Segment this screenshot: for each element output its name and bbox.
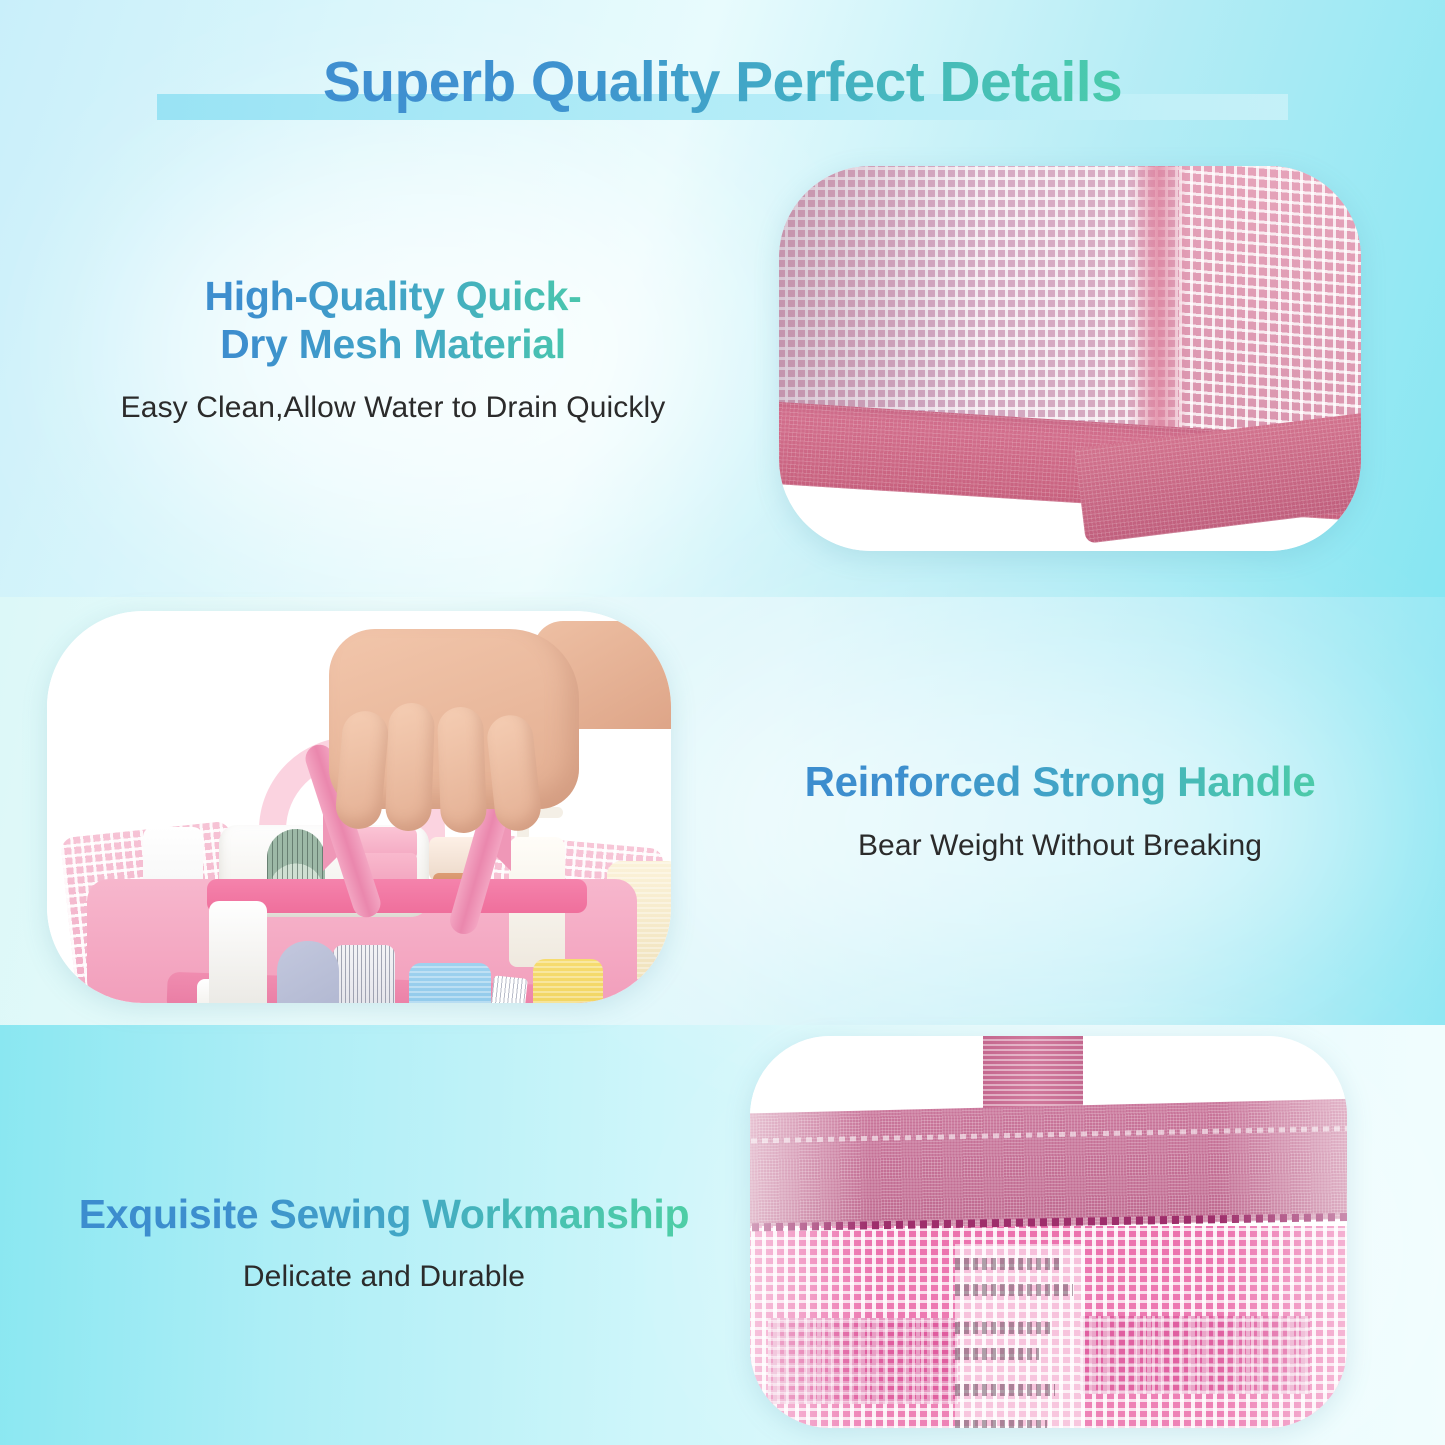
feature-text-quick-dry-mesh: High-Quality Quick- Dry Mesh Material Ea… [48, 272, 738, 425]
feature-title-strong-handle: Reinforced Strong Handle [690, 757, 1430, 807]
mesh-photo-content [779, 166, 1361, 551]
feature-text-strong-handle: Reinforced Strong Handle Bear Weight Wit… [690, 757, 1430, 863]
care-label-line-6 [955, 1420, 1047, 1428]
care-label [955, 1244, 1085, 1428]
feature-subtitle-strong-handle: Bear Weight Without Breaking [690, 829, 1430, 863]
caddy-photo-content [47, 611, 671, 1003]
feature-image-sewing-closeup [750, 1036, 1347, 1428]
brush-bristles [333, 945, 395, 1003]
product-feature-infographic: Superb Quality Perfect Details High-Qual… [0, 0, 1445, 1445]
sewing-photo-content [750, 1036, 1347, 1428]
feature-subtitle-quick-dry-mesh: Easy Clean,Allow Water to Drain Quickly [48, 391, 738, 425]
care-label-line-4 [955, 1348, 1039, 1360]
feature-image-mesh-closeup [779, 166, 1361, 551]
caddy-item-comb [488, 975, 528, 1003]
webbing-texture [983, 1036, 1083, 1116]
page-title: Superb Quality Perfect Details [0, 36, 1445, 128]
caddy-item-brush-handle [277, 941, 339, 1003]
caddy-handle-webbing [983, 1036, 1083, 1116]
caddy-item-brush-head [333, 945, 395, 1003]
caddy-item-blue-towel [409, 963, 491, 1003]
care-label-line-5 [955, 1384, 1055, 1396]
care-label-line-2 [955, 1284, 1073, 1296]
page-headline: Superb Quality Perfect Details [0, 36, 1445, 128]
caddy-item-yellow-towel [533, 959, 603, 1003]
feature-text-sewing-workmanship: Exquisite Sewing Workmanship Delicate an… [8, 1190, 760, 1294]
feature-subtitle-sewing-workmanship: Delicate and Durable [8, 1260, 760, 1294]
caddy-item-white-bottle-2 [209, 901, 267, 1003]
feature-title-line-1: High-Quality Quick- [205, 273, 582, 319]
finger-middle [385, 702, 435, 832]
blue-towel-texture [409, 963, 491, 1003]
feature-title-quick-dry-mesh: High-Quality Quick- Dry Mesh Material [48, 272, 738, 369]
feature-title-line-2: Dry Mesh Material [220, 321, 566, 367]
feature-title-sewing-workmanship: Exquisite Sewing Workmanship [8, 1190, 760, 1238]
feature-image-hand-holding-caddy [47, 611, 671, 1003]
care-label-line-3 [955, 1322, 1051, 1334]
yellow-towel-texture [533, 959, 603, 1003]
sewing-photo-left-highlight [750, 1036, 870, 1428]
finger-ring [437, 706, 487, 834]
care-label-line-1 [955, 1258, 1063, 1270]
sewing-photo-right-highlight [1217, 1036, 1347, 1428]
